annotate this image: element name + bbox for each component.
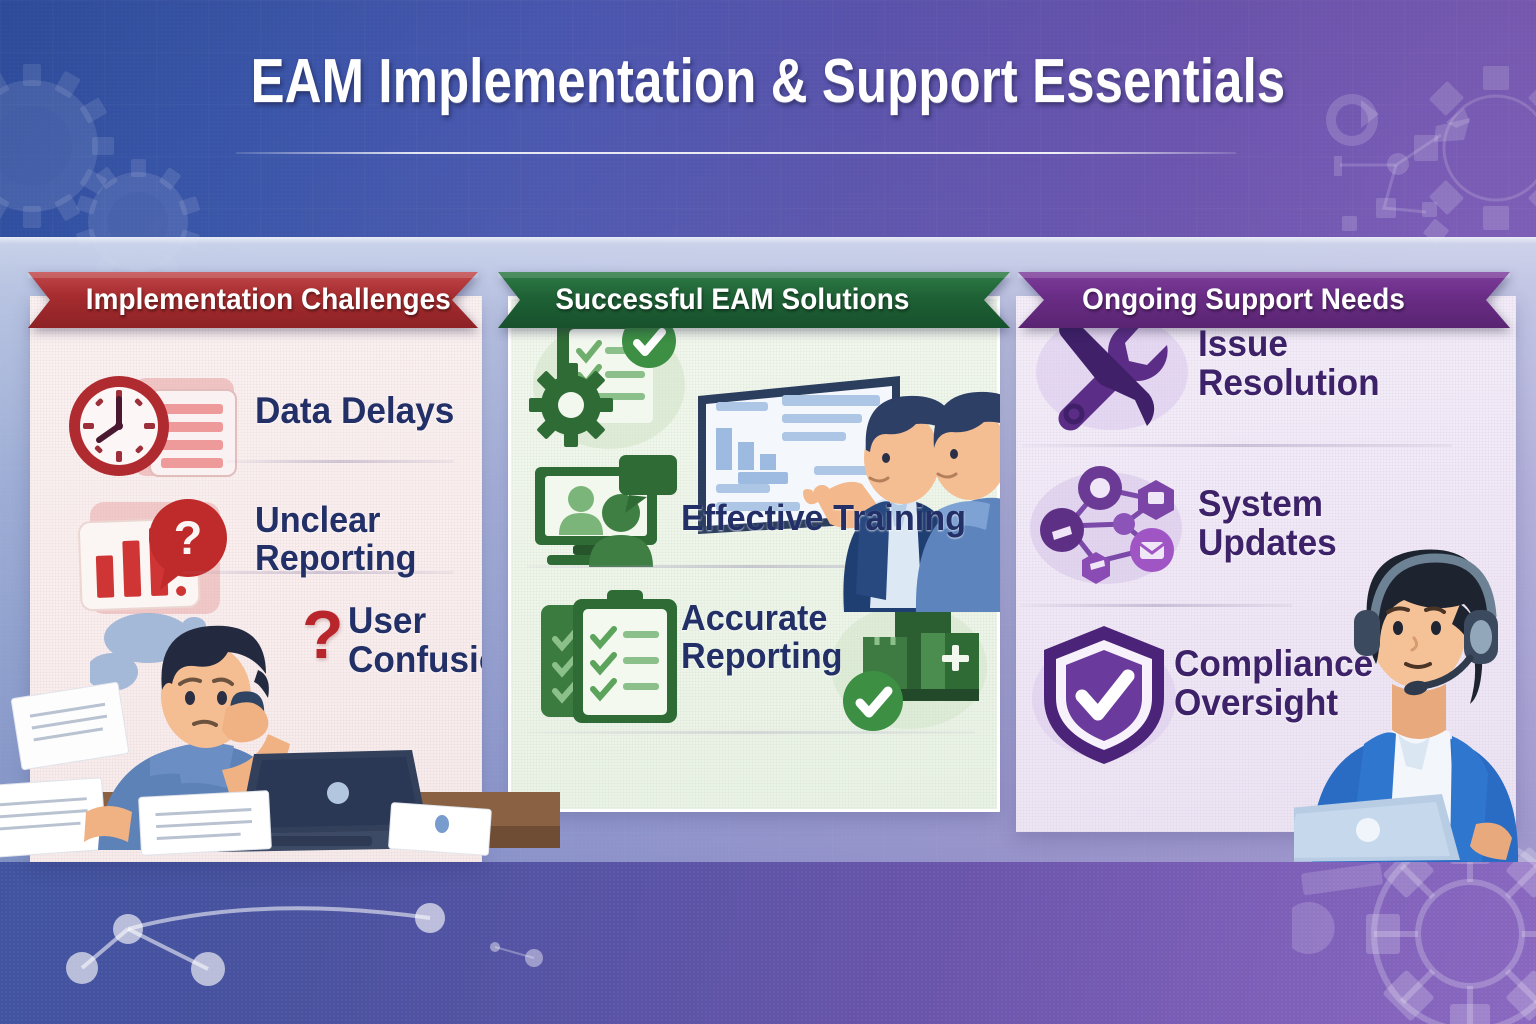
item-label-issue-resolution: Issue Resolution [1198, 324, 1369, 402]
network-nodes-icon [1028, 456, 1188, 596]
page-title: EAM Implementation & Support Essentials [138, 46, 1398, 117]
item-label-accurate-reporting: Accurate Reporting [681, 599, 833, 675]
row-divider [1022, 444, 1452, 447]
item-label-user-confusion: User Confusion [348, 601, 482, 679]
clock-document-icon [64, 368, 244, 486]
banner-successful-eam-solutions: Successful EAM Solutions [498, 272, 1010, 328]
question-mark-icon: ? [302, 596, 344, 674]
banner-implementation-challenges: Implementation Challenges [28, 272, 478, 328]
board-top-edge [0, 237, 1536, 244]
banner-label: Implementation Challenges [86, 283, 451, 317]
item-label-effective-training: Effective Training [681, 499, 966, 537]
item-label-data-delays: Data Delays [255, 391, 454, 430]
infographic-canvas: EAM Implementation & Support Essentials [0, 0, 1536, 1024]
frustrated-worker-at-desk-illustration [0, 598, 570, 868]
video-training-icon [525, 451, 680, 571]
title-divider [236, 152, 1236, 154]
item-label-unclear-reporting: Unclear Reporting [255, 501, 471, 577]
title-block: EAM Implementation & Support Essentials [0, 46, 1536, 117]
row-divider [1020, 604, 1292, 607]
banner-label: Ongoing Support Needs [1082, 283, 1405, 317]
checklist-gear-icon [529, 313, 689, 453]
item-label-system-updates: System Updates [1198, 484, 1360, 562]
large-gear-icon [1322, 848, 1536, 1024]
shield-check-icon [1030, 618, 1180, 768]
banner-label: Successful EAM Solutions [555, 283, 909, 317]
banner-ongoing-support-needs: Ongoing Support Needs [1018, 272, 1510, 328]
row-divider [527, 731, 975, 734]
svg-text:?: ? [174, 511, 203, 564]
row-divider [226, 460, 454, 463]
two-men-presenting-illustration [694, 362, 1000, 612]
item-label-compliance-oversight: Compliance Oversight [1174, 644, 1364, 722]
network-nodes-icon [0, 846, 560, 1024]
